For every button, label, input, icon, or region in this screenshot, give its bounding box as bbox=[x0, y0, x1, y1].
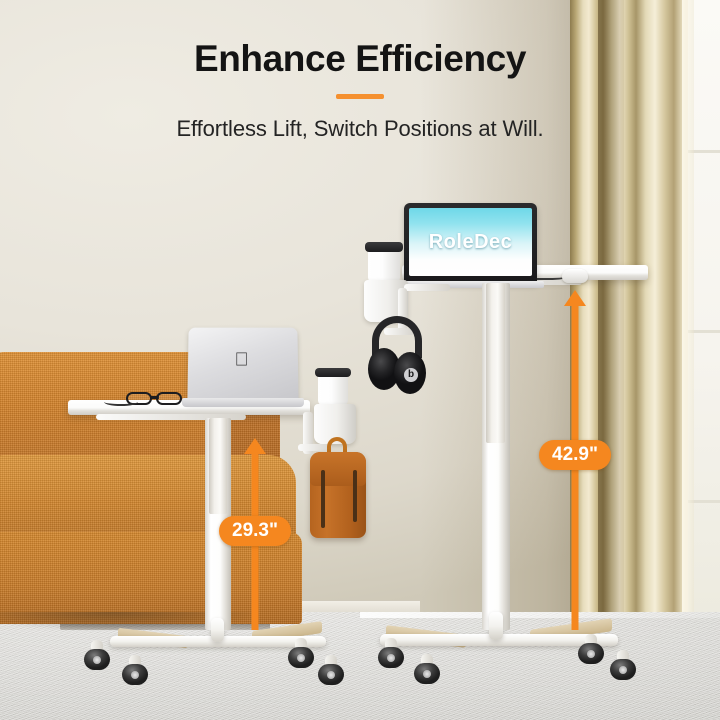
caster-lower-4 bbox=[318, 655, 344, 685]
laptop-screen: RoleDec bbox=[409, 208, 532, 276]
caster-upper-3 bbox=[578, 634, 604, 664]
measurement-label-high: 42.9" bbox=[539, 440, 611, 470]
title-divider bbox=[336, 94, 384, 99]
coffee-cup-lower bbox=[318, 372, 348, 406]
computer-mouse bbox=[562, 269, 588, 283]
header-block: Enhance Efficiency Effortless Lift, Swit… bbox=[0, 0, 720, 142]
coffee-cup-upper bbox=[368, 247, 400, 283]
backpack-strap-right bbox=[353, 470, 357, 522]
coffee-cup-lid-lower bbox=[315, 368, 351, 377]
base-stem-lower bbox=[211, 618, 224, 642]
page-title: Enhance Efficiency bbox=[0, 38, 720, 80]
lift-column-lower-inner bbox=[209, 418, 227, 514]
cable-lower-desk bbox=[104, 398, 138, 406]
backpack-strap-left bbox=[321, 470, 325, 528]
brand-text-on-screen: RoleDec bbox=[429, 231, 513, 254]
headphones-logo-icon: b bbox=[404, 368, 418, 382]
caster-lower-3 bbox=[288, 638, 314, 668]
caster-lower-1 bbox=[84, 640, 110, 670]
caster-upper-2 bbox=[414, 654, 440, 684]
lift-column-upper-inner bbox=[486, 283, 505, 443]
coffee-cup-lid-upper bbox=[365, 242, 403, 252]
laptop-lower-base bbox=[182, 398, 304, 407]
measurement-label-low: 29.3" bbox=[219, 516, 291, 546]
product-marketing-image:  RoleDec b bbox=[0, 0, 720, 720]
backpack-flap bbox=[310, 452, 366, 486]
caster-upper-1 bbox=[378, 638, 404, 668]
measurement-arrow-low: 29.3" bbox=[244, 438, 266, 630]
page-subtitle: Effortless Lift, Switch Positions at Wil… bbox=[0, 116, 720, 142]
laptop-upper: RoleDec bbox=[404, 203, 537, 283]
carpet-edge-line bbox=[360, 612, 720, 618]
measurement-arrow-high: 42.9" bbox=[564, 290, 586, 630]
eyeglasses-lens-right bbox=[156, 392, 182, 405]
cup-holder-arm-upper bbox=[404, 284, 450, 291]
base-stem-upper bbox=[489, 612, 503, 640]
laptop-lower:  bbox=[187, 328, 298, 404]
apple-logo-icon:  bbox=[234, 351, 251, 370]
caster-lower-2 bbox=[122, 655, 148, 685]
caster-upper-4 bbox=[610, 650, 636, 680]
